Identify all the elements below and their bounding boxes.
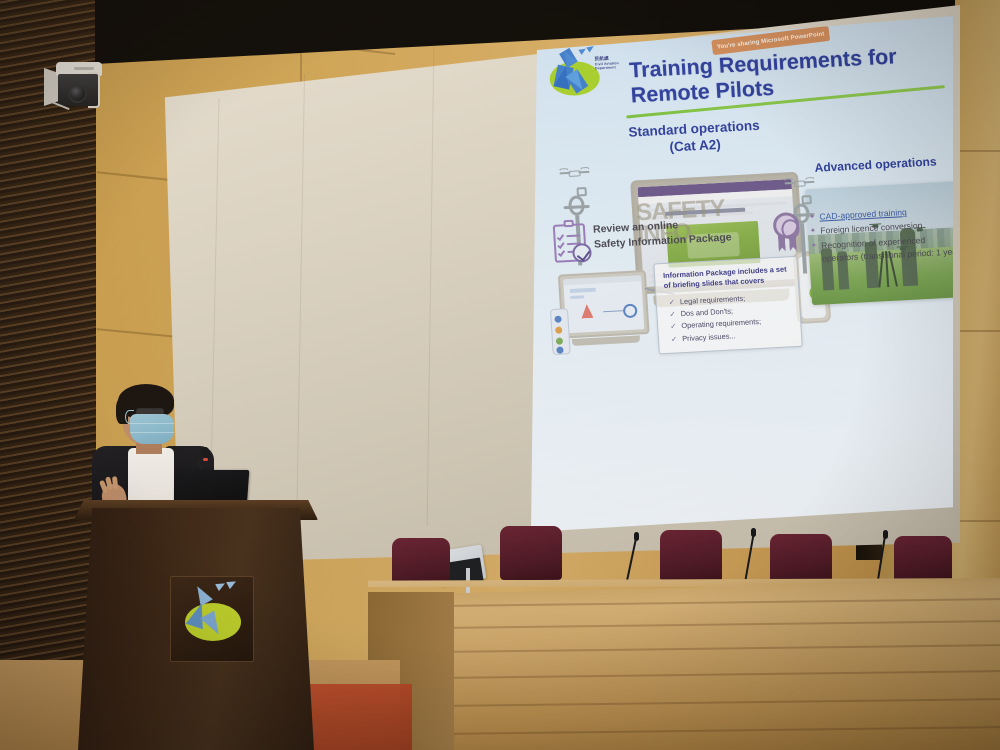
verified-check-badge (572, 243, 592, 263)
camera-lens (68, 84, 87, 103)
app-dot (555, 327, 562, 334)
advanced-operations-bullets: ✦ CAD-approved training ✦ Foreign licenc… (808, 203, 953, 267)
check-icon: ✓ (669, 309, 676, 322)
clipboard-clip (563, 220, 573, 228)
microphone-head (751, 528, 756, 537)
app-dot (556, 346, 563, 353)
advanced-operations-heading: Advanced operations (795, 153, 953, 175)
drone-rotor (805, 177, 814, 180)
diamond-bullet-icon: ✦ (808, 211, 816, 225)
laptop-screen (563, 275, 644, 333)
laptop-lid (558, 270, 650, 339)
info-box-heading: Information Package includes a set of br… (663, 264, 790, 291)
phone-mockup-secondary (550, 308, 571, 355)
map-target-graphic (623, 303, 638, 318)
browser-titlebar (563, 275, 641, 285)
projected-slide: 民航處 Civil Aviation Department Training R… (531, 16, 953, 532)
page-chip (570, 288, 596, 293)
drone-rotor (580, 167, 589, 170)
connector-line (603, 310, 625, 312)
ceiling-security-camera (44, 62, 102, 114)
lectern-logo-plaque (170, 576, 254, 662)
app-dot (554, 316, 561, 323)
presentation-room-photo: 民航處 Civil Aviation Department Training R… (0, 0, 1000, 750)
clipboard-checklist-icon (550, 219, 593, 267)
diamond-bullet-icon: ✦ (810, 239, 818, 266)
bench-chair (500, 526, 562, 580)
desk-slat (368, 726, 1000, 735)
drone-body (568, 170, 580, 177)
civil-aviation-department-logo (542, 44, 607, 103)
warning-zone-graphic (581, 304, 594, 319)
desk-slat (368, 620, 1000, 629)
logo-tick-icon (226, 578, 238, 589)
check-icon: ✓ (670, 321, 677, 334)
desk-slat (368, 644, 1000, 653)
drone-rotor (784, 178, 793, 181)
bench-chair (660, 530, 722, 582)
standard-operations-heading: Standard operations (Cat A2) (599, 116, 791, 160)
award-ribbon-icon (768, 210, 805, 256)
surgical-face-mask (130, 414, 174, 444)
microphone-status-led (203, 458, 208, 461)
page-chip (570, 295, 584, 299)
information-package-box: Information Package includes a set of br… (653, 256, 802, 354)
desk-slat (368, 598, 1000, 607)
bench-chair (392, 538, 450, 586)
drone-body (793, 180, 805, 187)
microphone-head (634, 532, 639, 541)
desk-slat (368, 670, 1000, 679)
check-icon: ✓ (668, 296, 675, 309)
check-icon: ✓ (671, 333, 678, 346)
laptop-mockup-secondary (558, 270, 650, 347)
app-dot (556, 337, 563, 344)
drone-icon (784, 177, 815, 192)
front-bench-desk (368, 580, 1000, 750)
desk-slat (368, 698, 1000, 707)
drone-rotor (559, 168, 568, 171)
microphone-head (883, 530, 888, 539)
drone-icon (559, 167, 590, 182)
ribbon-rosette (772, 212, 800, 239)
diamond-bullet-icon: ✦ (809, 225, 817, 239)
bench-chair (770, 534, 832, 584)
bench-chair (894, 536, 952, 584)
